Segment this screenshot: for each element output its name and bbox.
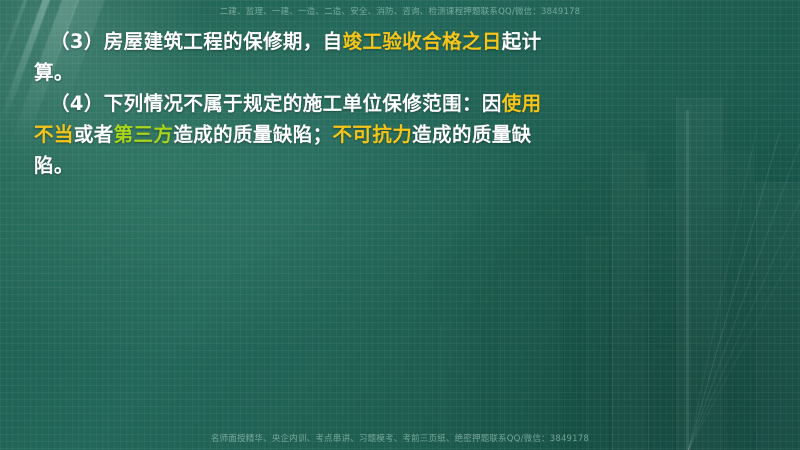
line2-text-a: 算。 [34, 61, 74, 84]
body-line-4: 不当或者第三方造成的质量缺陷；不可抗力造成的质量缺 [34, 119, 594, 150]
bridge-cable [688, 158, 800, 450]
building-silhouette [612, 150, 648, 450]
line4-text-f: 造成的质量缺 [412, 123, 531, 146]
bridge-cable [688, 140, 800, 450]
line4-highlight-e: 不可抗力 [333, 123, 413, 146]
slide-body: （3）房屋建筑工程的保修期，自竣工验收合格之日起计 算。 （4）下列情况不属于规… [34, 26, 594, 181]
top-watermark: 二建、监理、一建、一造、二造、安全、消防、咨询、检测课程押题联系QQ/微信：38… [0, 5, 800, 17]
building-silhouette [676, 98, 724, 450]
bridge-cable [688, 133, 780, 450]
body-line-2: 算。 [34, 57, 594, 88]
line1-text-a: （3）房屋建筑工程的保修期，自 [50, 30, 343, 53]
building-silhouette [586, 236, 610, 450]
line4-text-d: 造成的质量缺陷； [173, 123, 332, 146]
body-line-1: （3）房屋建筑工程的保修期，自竣工验收合格之日起计 [34, 26, 594, 57]
bridge-cable [688, 127, 758, 450]
line3-highlight: 使用 [502, 92, 542, 115]
building-silhouette [724, 150, 756, 450]
presentation-slide: 二建、监理、一建、一造、二造、安全、消防、咨询、检测课程押题联系QQ/微信：38… [0, 0, 800, 450]
body-line-3: （4）下列情况不属于规定的施工单位保修范围：因使用 [34, 88, 594, 119]
bridge-pylon [686, 110, 689, 450]
line4-highlight-a: 不当 [34, 123, 74, 146]
bridge-cable [688, 148, 800, 450]
building-silhouette [500, 270, 564, 450]
building-silhouette [648, 188, 676, 450]
line1-text-c: 起计 [502, 30, 542, 53]
line1-highlight: 竣工验收合格之日 [343, 30, 502, 53]
line4-highlight-c: 第三方 [114, 123, 174, 146]
building-silhouette [756, 182, 800, 450]
line3-text-a: （4）下列情况不属于规定的施工单位保修范围：因 [50, 92, 502, 115]
line5-text-a: 陷。 [34, 154, 74, 177]
bottom-watermark: 名师面授精华、央企内训、考点串讲、习题模考、考前三页纸、绝密押题联系QQ/微信：… [0, 432, 800, 444]
line4-text-b: 或者 [74, 123, 114, 146]
body-line-5: 陷。 [34, 150, 594, 181]
